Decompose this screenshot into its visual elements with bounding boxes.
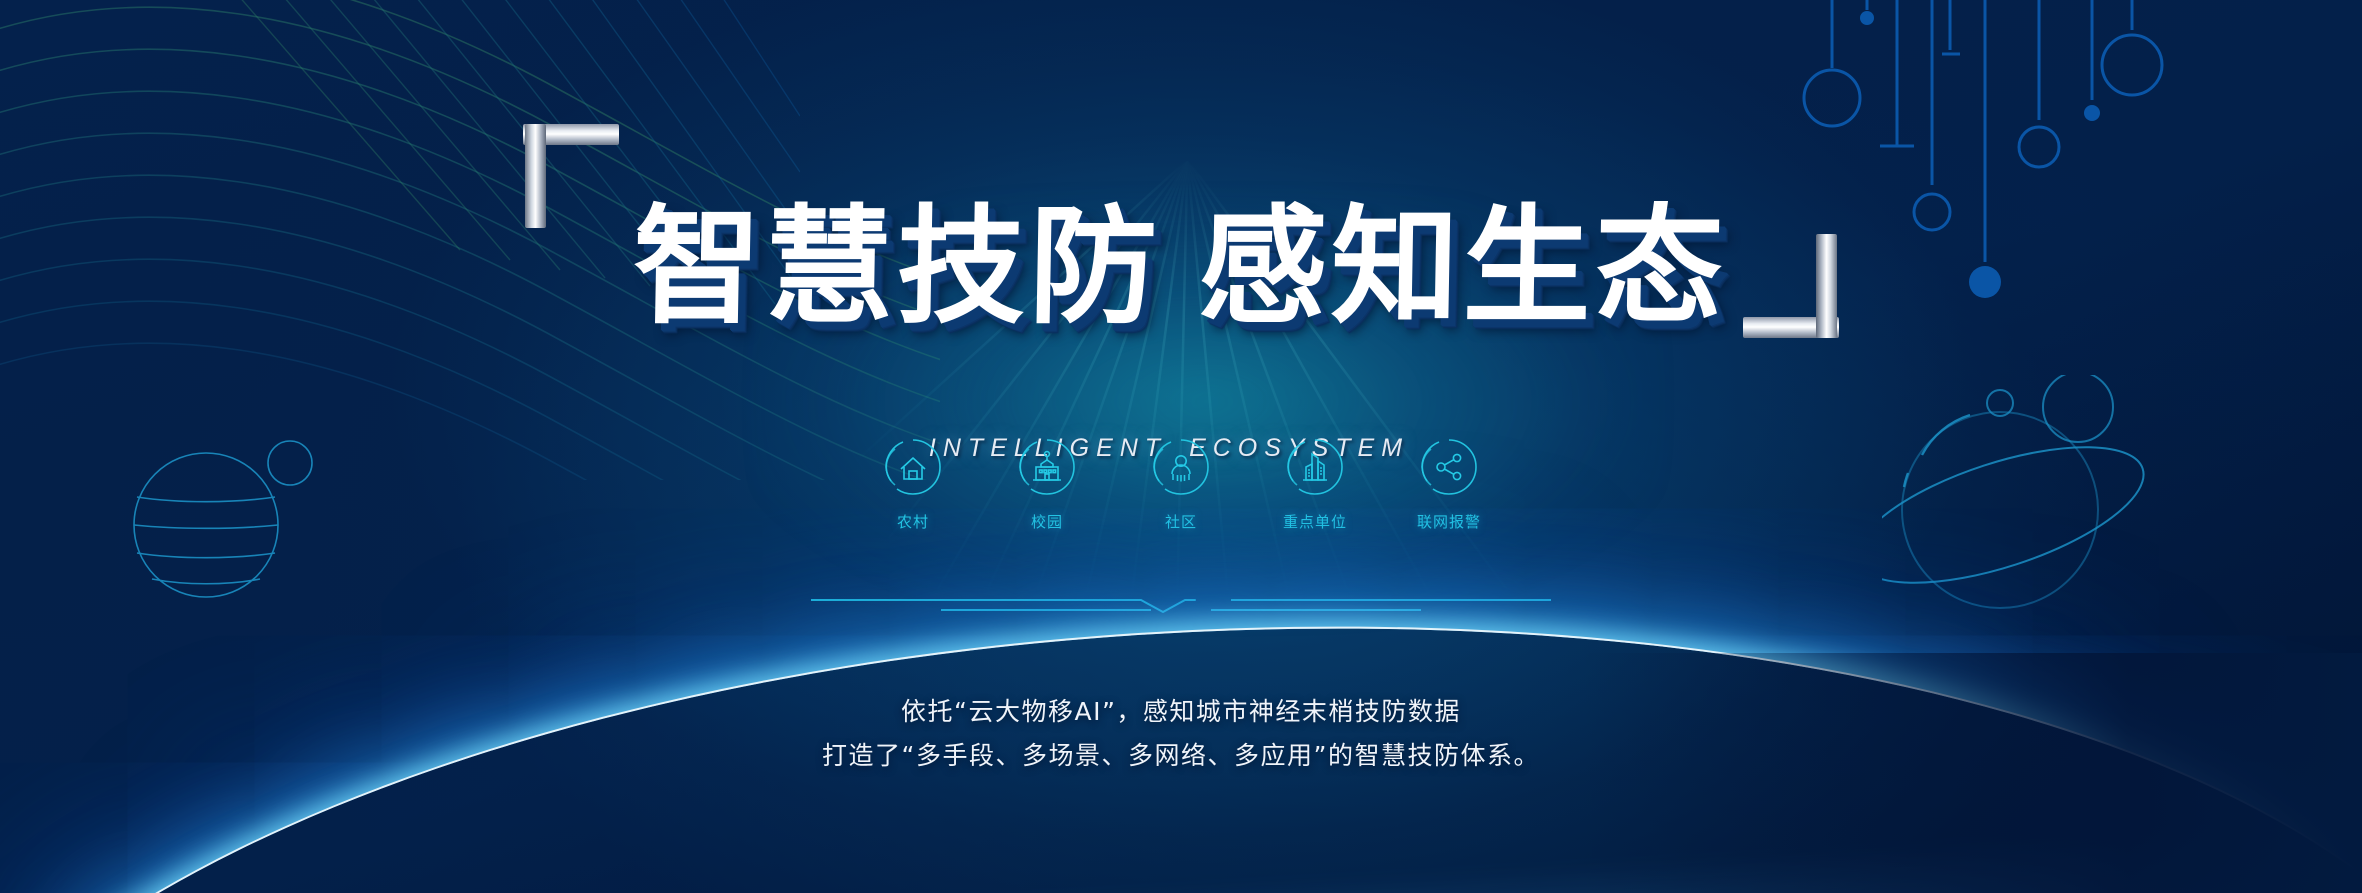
horizon-bottom-mask: [0, 773, 2362, 893]
description-text: 依托“云大物移AI”，感知城市神经末梢技防数据 打造了“多手段、多场景、多网络、…: [0, 690, 2362, 778]
office-building-icon: [1285, 437, 1345, 497]
category-item-campus[interactable]: 校园: [1003, 437, 1091, 532]
category-item-rural[interactable]: 农村: [869, 437, 957, 532]
category-icon-row: 农村: [869, 437, 1493, 532]
banner-stage: 智慧技防感知生态 INTELLIGENTECOSYSTEM: [0, 0, 2362, 893]
category-item-network-alarm[interactable]: 联网报警: [1405, 437, 1493, 532]
description-line-2: 打造了“多手段、多场景、多网络、多应用”的智慧技防体系。: [0, 734, 2362, 778]
headline-row: 智慧技防感知生态: [523, 118, 1839, 418]
description-line-1: 依托“云大物移AI”，感知城市神经末梢技防数据: [0, 690, 2362, 734]
title-part-1: 智慧技防: [632, 193, 1163, 342]
bracket-bottom-right-icon: [1743, 234, 1839, 338]
category-label: 农村: [897, 511, 929, 532]
school-icon: [1017, 437, 1077, 497]
headline-block: 智慧技防感知生态 INTELLIGENTECOSYSTEM: [0, 118, 2362, 463]
category-label: 联网报警: [1417, 511, 1481, 532]
section-divider: [811, 586, 1551, 626]
network-share-icon: [1419, 437, 1479, 497]
category-item-community[interactable]: 社区: [1137, 437, 1225, 532]
category-label: 重点单位: [1283, 511, 1347, 532]
community-icon: [1151, 437, 1211, 497]
page-title: 智慧技防感知生态: [632, 204, 1728, 332]
category-label: 社区: [1165, 511, 1197, 532]
category-item-key-units[interactable]: 重点单位: [1271, 437, 1359, 532]
house-icon: [883, 437, 943, 497]
bracket-top-left-icon: [523, 124, 619, 228]
category-label: 校园: [1031, 511, 1063, 532]
title-part-2: 感知生态: [1198, 193, 1729, 342]
